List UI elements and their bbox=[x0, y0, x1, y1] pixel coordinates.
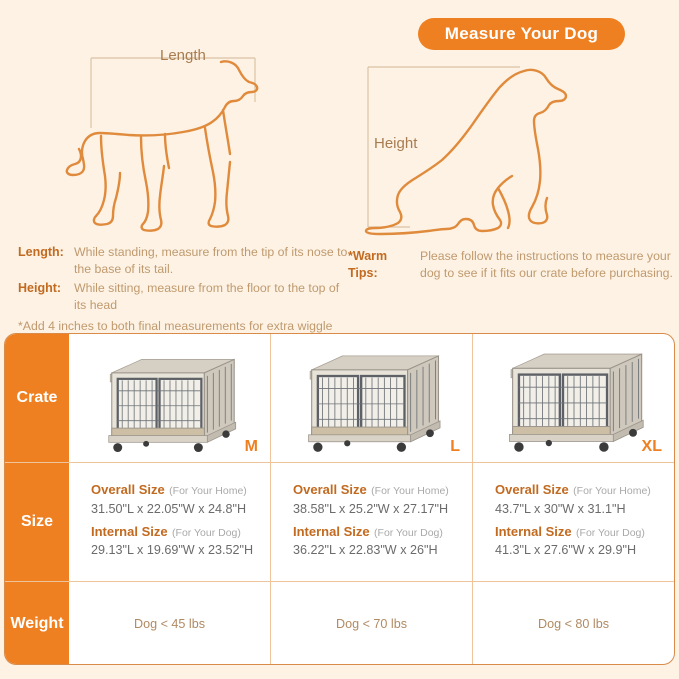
crate-cell-l[interactable]: L bbox=[270, 334, 472, 462]
crate-photo-icon bbox=[95, 346, 245, 458]
table-row-size: Size Overall Size (For Your Home) 31.50"… bbox=[5, 462, 674, 581]
overall-size-note: (For Your Home) bbox=[371, 485, 449, 497]
badge-label: Measure Your Dog bbox=[445, 24, 598, 44]
overall-size-heading-l: Overall Size (For Your Home) bbox=[293, 480, 449, 500]
size-cell-xl: Overall Size (For Your Home) 43.7"L x 30… bbox=[472, 463, 674, 581]
overall-size-label: Overall Size bbox=[91, 482, 165, 497]
weight-value-xl: Dog < 80 lbs bbox=[538, 617, 609, 631]
measurement-instructions: Length: While standing, measure from the… bbox=[18, 244, 348, 347]
weight-value-l: Dog < 70 lbs bbox=[336, 617, 407, 631]
overall-size-value-l: 38.58"L x 25.2"W x 27.17"H bbox=[293, 501, 448, 517]
warm-tips-text: Please follow the instructions to measur… bbox=[420, 248, 673, 282]
weight-cells: Dog < 45 lbs Dog < 70 lbs Dog < 80 lbs bbox=[69, 582, 674, 665]
crate-cell-m[interactable]: M bbox=[69, 334, 270, 462]
length-dimension-label: Length bbox=[160, 47, 206, 64]
overall-size-value-xl: 43.7"L x 30"W x 31.1"H bbox=[495, 501, 626, 517]
standing-dog-outline bbox=[55, 40, 355, 240]
internal-size-note: (For Your Dog) bbox=[374, 527, 443, 539]
length-instruction-row: Length: While standing, measure from the… bbox=[18, 244, 348, 277]
height-instruction-key: Height: bbox=[18, 280, 74, 313]
infographic-page: Measure Your Dog Length Height Length: bbox=[0, 0, 679, 679]
size-tag-l: L bbox=[450, 438, 460, 456]
internal-size-value-l: 36.22"L x 22.83"W x 26"H bbox=[293, 542, 438, 558]
size-cell-l: Overall Size (For Your Home) 38.58"L x 2… bbox=[270, 463, 472, 581]
crate-cell-xl[interactable]: XL bbox=[472, 334, 674, 462]
weight-value-m: Dog < 45 lbs bbox=[134, 617, 205, 631]
length-instruction-text: While standing, measure from the tip of … bbox=[74, 244, 348, 277]
standing-dog-diagram bbox=[55, 40, 355, 240]
internal-size-label: Internal Size bbox=[91, 524, 168, 539]
size-tag-xl: XL bbox=[642, 438, 662, 456]
internal-size-label: Internal Size bbox=[293, 524, 370, 539]
overall-size-note: (For Your Home) bbox=[573, 485, 651, 497]
size-cells: Overall Size (For Your Home) 31.50"L x 2… bbox=[69, 463, 674, 581]
crate-photo-icon bbox=[290, 342, 454, 458]
internal-size-note: (For Your Dog) bbox=[576, 527, 645, 539]
size-tag-m: M bbox=[245, 438, 258, 456]
warm-tips-key: *Warm Tips: bbox=[348, 248, 420, 282]
height-dimension-label: Height bbox=[374, 135, 417, 152]
overall-size-heading-m: Overall Size (For Your Home) bbox=[91, 480, 247, 500]
specification-table: Crate bbox=[4, 333, 675, 665]
internal-size-value-m: 29.13"L x 19.69"W x 23.52"H bbox=[91, 542, 253, 558]
weight-cell-l: Dog < 70 lbs bbox=[270, 582, 472, 665]
overall-size-label: Overall Size bbox=[293, 482, 367, 497]
weight-cell-xl: Dog < 80 lbs bbox=[472, 582, 674, 665]
overall-size-label: Overall Size bbox=[495, 482, 569, 497]
measure-your-dog-badge: Measure Your Dog bbox=[418, 18, 625, 50]
table-row-weight: Weight Dog < 45 lbs Dog < 70 lbs Dog < 8… bbox=[5, 581, 674, 665]
internal-size-value-xl: 41.3"L x 27.6"W x 29.9"H bbox=[495, 542, 636, 558]
height-instruction-row: Height: While sitting, measure from the … bbox=[18, 280, 348, 313]
internal-size-heading-xl: Internal Size (For Your Dog) bbox=[495, 522, 645, 542]
height-instruction-text: While sitting, measure from the floor to… bbox=[74, 280, 348, 313]
table-row-crate: Crate bbox=[5, 334, 674, 462]
internal-size-heading-l: Internal Size (For Your Dog) bbox=[293, 522, 443, 542]
crate-cells: M bbox=[69, 334, 674, 462]
length-instruction-key: Length: bbox=[18, 244, 74, 277]
weight-cell-m: Dog < 45 lbs bbox=[69, 582, 270, 665]
warm-tips: *Warm Tips: Please follow the instructio… bbox=[348, 248, 673, 282]
overall-size-heading-xl: Overall Size (For Your Home) bbox=[495, 480, 651, 500]
row-label-weight: Weight bbox=[5, 582, 69, 665]
internal-size-heading-m: Internal Size (For Your Dog) bbox=[91, 522, 241, 542]
internal-size-note: (For Your Dog) bbox=[172, 527, 241, 539]
size-cell-m: Overall Size (For Your Home) 31.50"L x 2… bbox=[69, 463, 270, 581]
row-label-size: Size bbox=[5, 463, 69, 581]
row-label-crate: Crate bbox=[5, 333, 69, 462]
overall-size-note: (For Your Home) bbox=[169, 485, 247, 497]
crate-photo-icon bbox=[485, 340, 663, 458]
internal-size-label: Internal Size bbox=[495, 524, 572, 539]
overall-size-value-m: 31.50"L x 22.05"W x 24.8"H bbox=[91, 501, 246, 517]
